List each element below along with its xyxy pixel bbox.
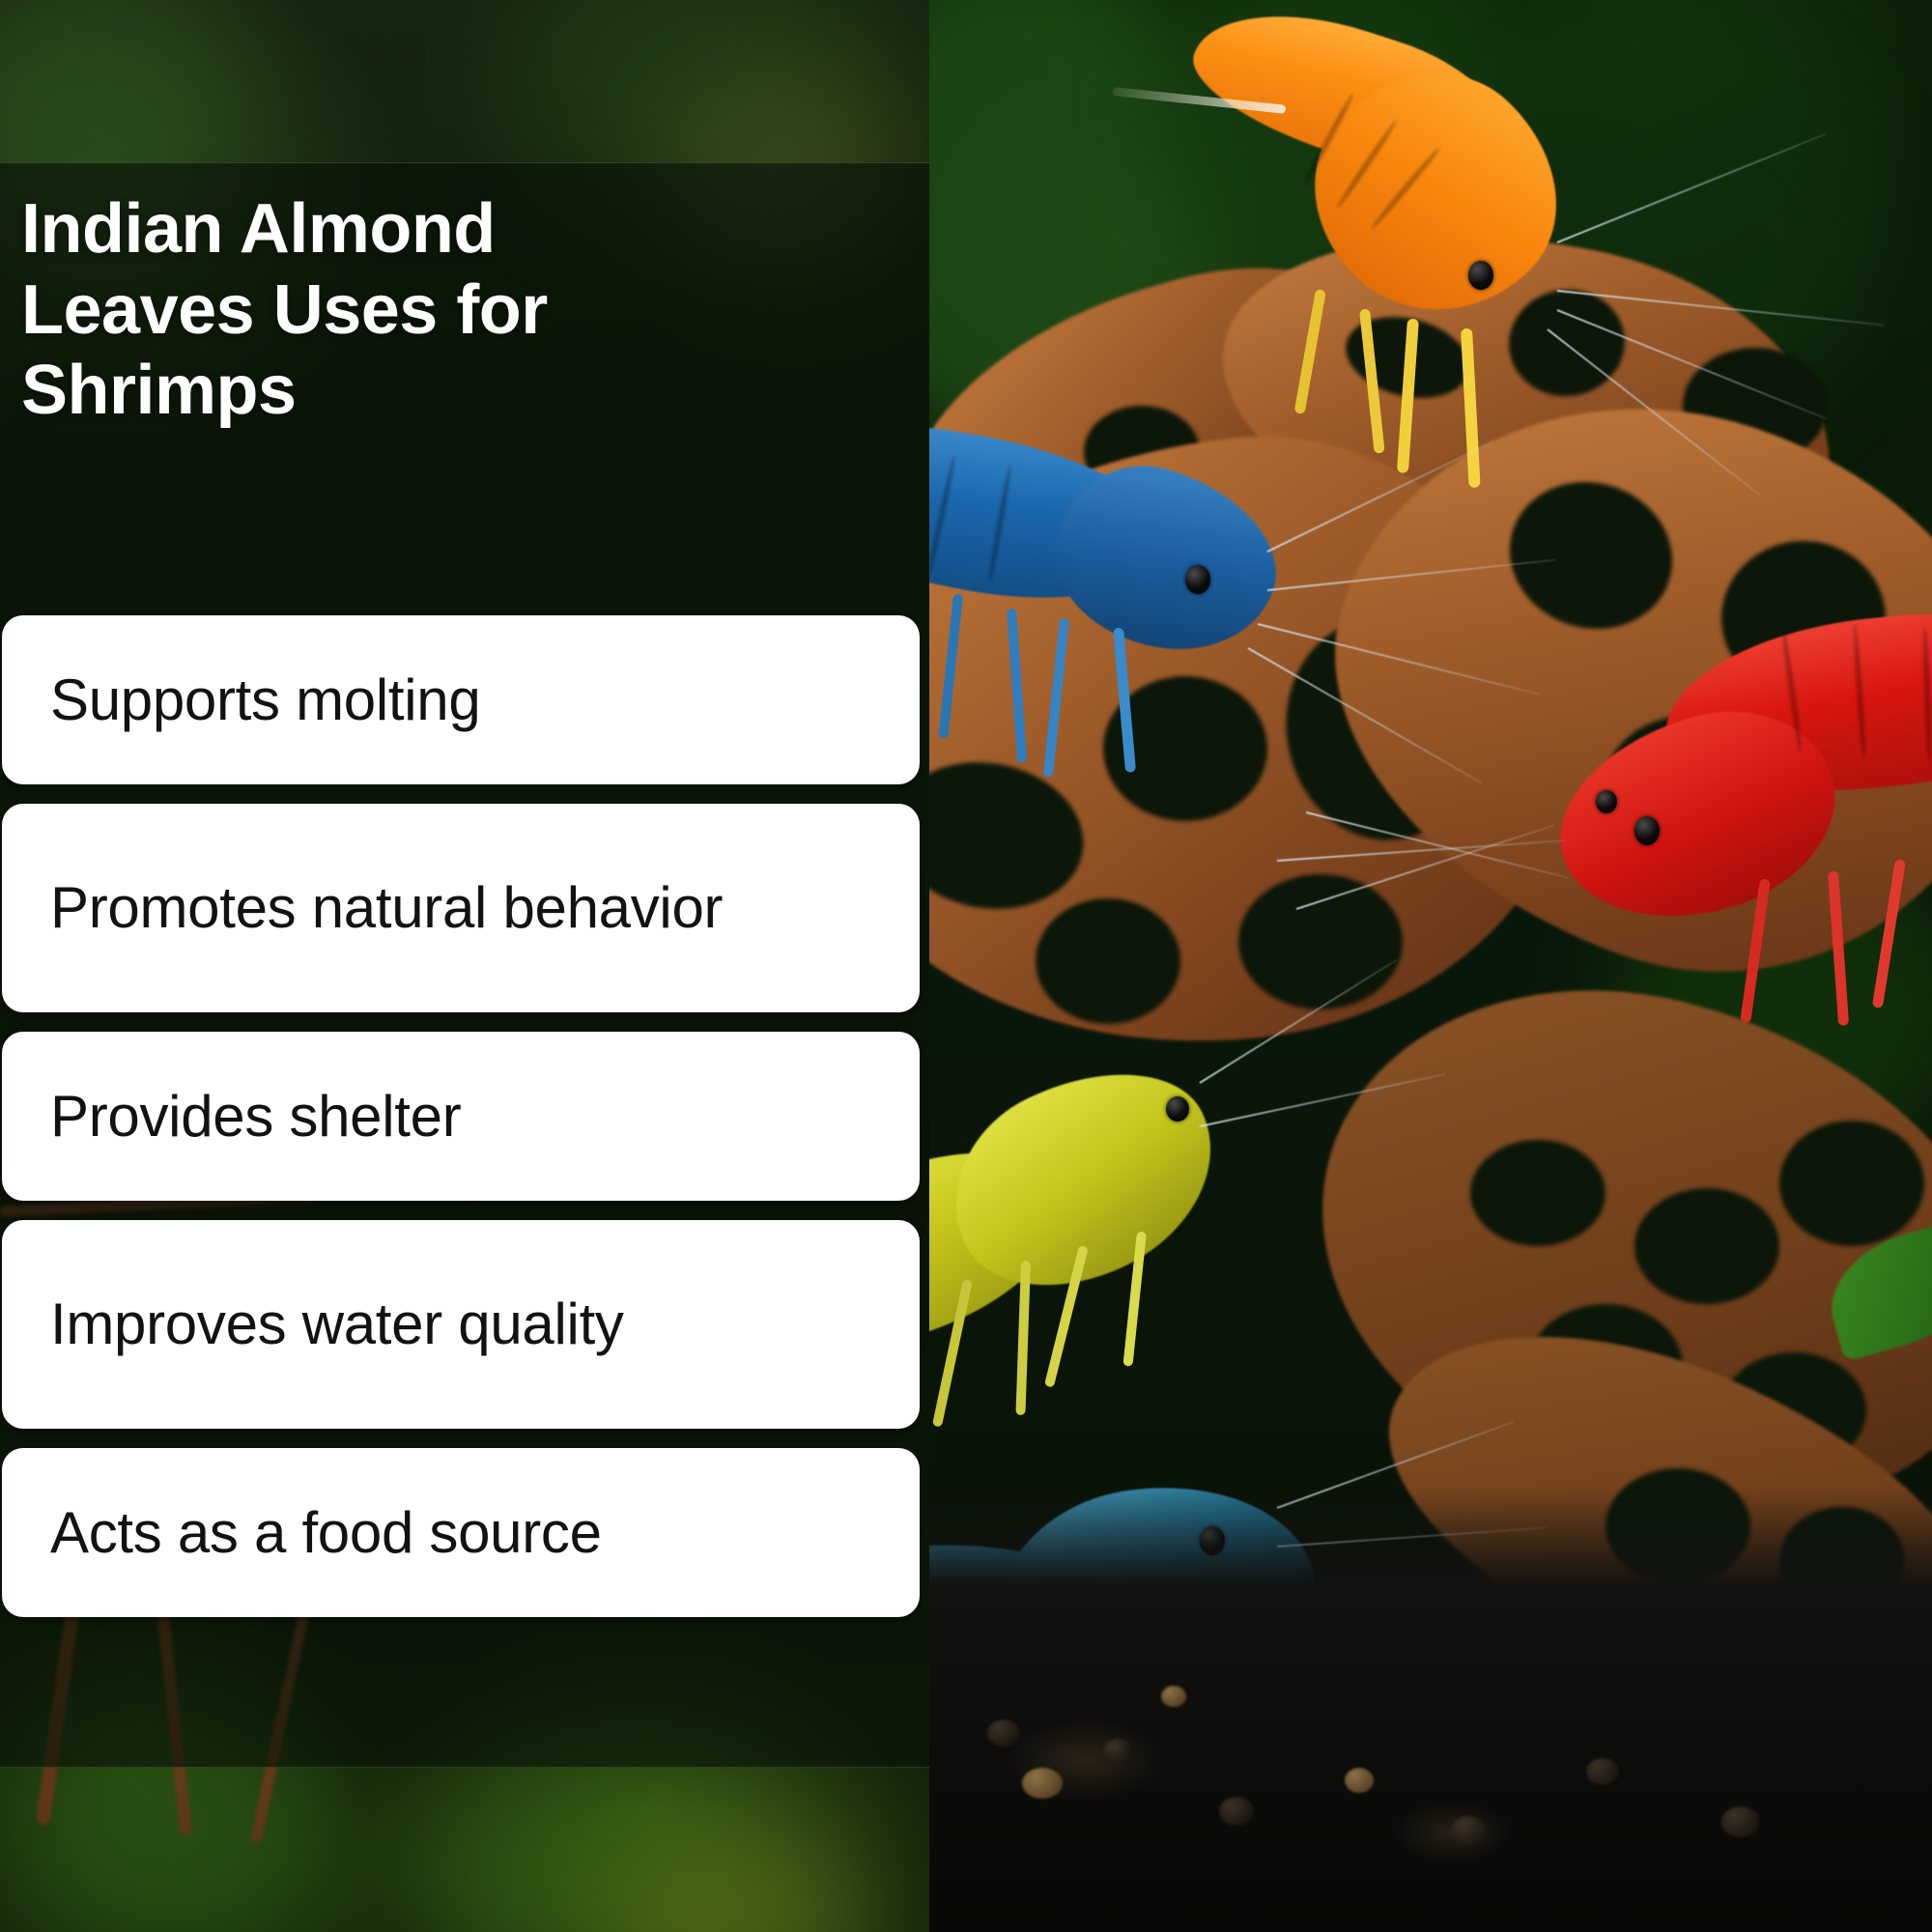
shrimp-leg bbox=[1007, 609, 1027, 763]
benefit-label: Promotes natural behavior bbox=[50, 875, 723, 940]
benefit-card[interactable]: Acts as a food source bbox=[2, 1448, 920, 1617]
substrate-grain bbox=[1345, 1768, 1374, 1793]
shrimp-eye bbox=[1468, 261, 1493, 290]
shrimp-leg bbox=[1113, 628, 1136, 773]
shrimp-eye bbox=[1185, 565, 1210, 594]
benefit-card[interactable]: Provides shelter bbox=[2, 1032, 920, 1201]
substrate-grain bbox=[1586, 1758, 1619, 1785]
page-title-line: Shrimps bbox=[21, 351, 794, 432]
blue-shrimp bbox=[929, 406, 1441, 753]
page-title-line: Indian Almond bbox=[21, 189, 794, 270]
page-title: Indian Almond Leaves Uses for Shrimps bbox=[21, 189, 794, 432]
shrimp-leg bbox=[938, 593, 963, 738]
shrimp-eye bbox=[1634, 816, 1660, 845]
shrimp-eye bbox=[1596, 790, 1617, 813]
benefit-label: Improves water quality bbox=[50, 1292, 624, 1356]
leaf-hole bbox=[1470, 1140, 1605, 1246]
aquarium-substrate bbox=[929, 1488, 1932, 1932]
substrate-grain bbox=[1451, 1816, 1488, 1845]
substrate-grain bbox=[1219, 1797, 1254, 1826]
leaf-hole bbox=[1779, 1121, 1924, 1246]
yellow-shrimp bbox=[929, 1053, 1345, 1420]
benefit-card[interactable]: Improves water quality bbox=[2, 1220, 920, 1429]
substrate-grain bbox=[1103, 1739, 1132, 1764]
orange-shrimp bbox=[1171, 19, 1692, 386]
leaf-hole bbox=[1238, 874, 1403, 1009]
shrimp-leg bbox=[1872, 859, 1906, 1009]
substrate-grain bbox=[987, 1719, 1020, 1747]
benefit-label: Acts as a food source bbox=[50, 1500, 602, 1565]
panel-content: Indian Almond Leaves Uses for Shrimps Su… bbox=[0, 162, 929, 1766]
substrate-grain bbox=[1721, 1806, 1760, 1837]
benefit-card[interactable]: Supports molting bbox=[2, 615, 920, 784]
shrimp-eye bbox=[1166, 1096, 1189, 1122]
benefit-label: Supports molting bbox=[50, 668, 480, 732]
benefit-card[interactable]: Promotes natural behavior bbox=[2, 804, 920, 1012]
substrate-grain bbox=[1161, 1686, 1186, 1707]
red-shrimp bbox=[1470, 618, 1932, 1024]
shrimp-leg bbox=[1043, 617, 1069, 777]
substrate-grain bbox=[1022, 1768, 1063, 1799]
page-title-line: Leaves Uses for bbox=[21, 270, 794, 352]
infographic-canvas: Indian Almond Leaves Uses for Shrimps Su… bbox=[0, 0, 1932, 1932]
benefits-list: Supports molting Promotes natural behavi… bbox=[2, 615, 920, 1636]
benefit-label: Provides shelter bbox=[50, 1084, 461, 1149]
shrimp-leg bbox=[1015, 1261, 1031, 1415]
leaf-hole bbox=[1634, 1188, 1779, 1304]
shrimp-leg bbox=[1828, 871, 1849, 1026]
leaf-hole bbox=[1036, 898, 1180, 1024]
aquarium-photo bbox=[929, 0, 1932, 1932]
